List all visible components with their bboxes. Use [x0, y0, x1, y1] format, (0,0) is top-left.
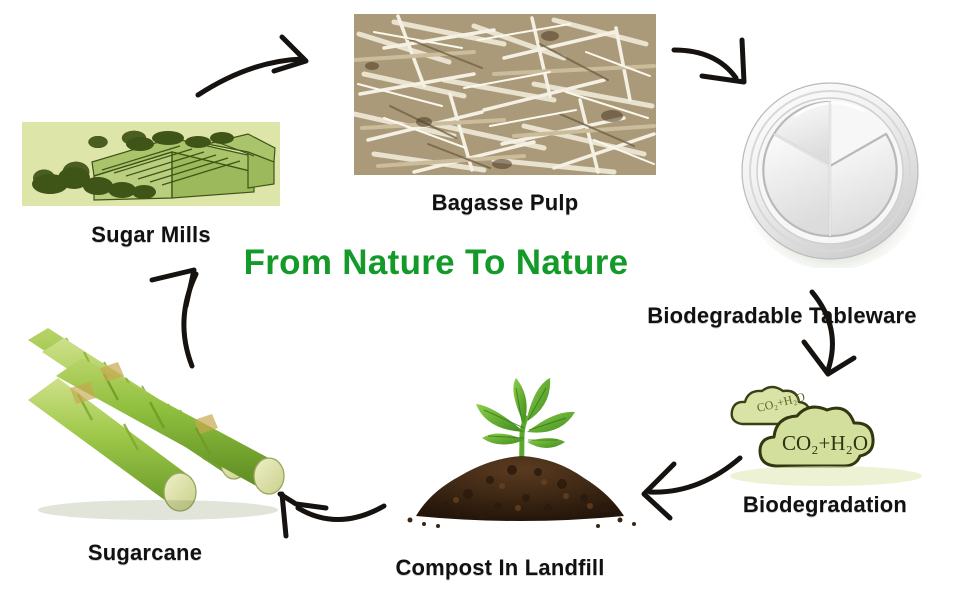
cycle-diagram: Sugar Mills [0, 0, 960, 600]
arrow-biodegradation-to-compost [628, 452, 748, 532]
arrow-compost-to-sugarcane [272, 478, 392, 548]
sugar-mill-building-icon [22, 122, 280, 206]
seedling-in-soil-icon [398, 348, 648, 538]
bagasse-pulp-image [354, 14, 656, 175]
compost-in-landfill-label: Compost In Landfill [340, 555, 660, 581]
biodegradable-tableware-label: Biodegradable Tableware [604, 303, 960, 329]
arrow-tableware-to-biodegradation [790, 288, 880, 388]
compost-in-landfill-image [398, 348, 648, 538]
arrow-bagasse-to-tableware [672, 32, 792, 112]
page-title-text: From Nature To Nature [244, 243, 629, 283]
sugar-mills-image [22, 122, 280, 206]
arrow-sugarcane-mills-to-bagasse [190, 25, 340, 105]
bagasse-pulp-label: Bagasse Pulp [354, 190, 656, 216]
page-title: From Nature To Nature [0, 243, 960, 283]
cloud-big-formula: CO₂+H₂O [782, 431, 868, 455]
bagasse-fibers-icon [354, 14, 656, 175]
co2-clouds-icon: CO₂+H₂O CO₂+H₂O [718, 378, 936, 488]
sugarcane-label: Sugarcane [30, 540, 260, 566]
biodegradation-image: CO₂+H₂O CO₂+H₂O [718, 378, 936, 488]
